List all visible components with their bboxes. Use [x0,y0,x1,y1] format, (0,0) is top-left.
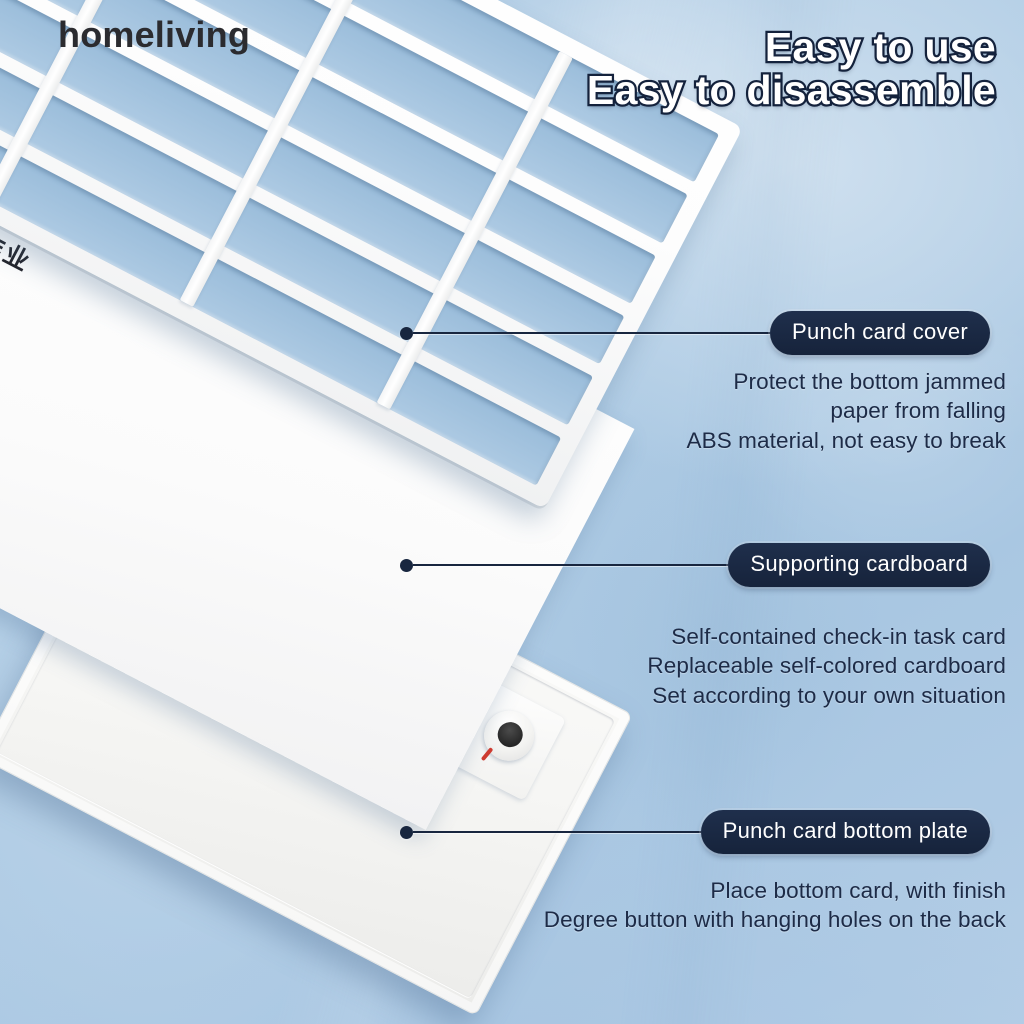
brand-watermark: homeliving [58,14,250,56]
callout-punch-card-bottom-plate: Punch card bottom plate [400,810,990,854]
desc-line: ABS material, not easy to break [586,426,1006,455]
callout-description-1: Protect the bottom jammed paper from fal… [586,367,1006,455]
callout-label[interactable]: Punch card bottom plate [701,810,990,854]
callout-label[interactable]: Supporting cardboard [728,543,990,587]
desc-line: Degree button with hanging holes on the … [406,905,1006,934]
desc-line: Self-contained check-in task card [546,622,1006,651]
callout-leader-line [413,564,728,566]
headline-line-1: Easy to use [587,26,996,69]
callout-leader-line [413,332,770,334]
callout-anchor-dot [400,327,413,340]
callout-label[interactable]: Punch card cover [770,311,990,355]
callout-supporting-cardboard: Supporting cardboard [400,543,990,587]
desc-line: Place bottom card, with finish [406,876,1006,905]
callout-anchor-dot [400,826,413,839]
callout-leader-line [413,831,701,833]
callout-punch-card-cover: Punch card cover [400,311,990,355]
desc-line: Replaceable self-colored cardboard [546,651,1006,680]
desc-line: Set according to your own situation [546,681,1006,710]
desc-line: paper from falling [586,396,1006,425]
page-title: Easy to use Easy to disassemble [587,26,996,111]
callout-description-3: Place bottom card, with finish Degree bu… [406,876,1006,935]
callout-anchor-dot [400,559,413,572]
headline-line-2: Easy to disassemble [587,69,996,112]
callout-description-2: Self-contained check-in task card Replac… [546,622,1006,710]
desc-line: Protect the bottom jammed [586,367,1006,396]
product-infographic: 打扫房间 完成作业 [0,0,1024,1024]
